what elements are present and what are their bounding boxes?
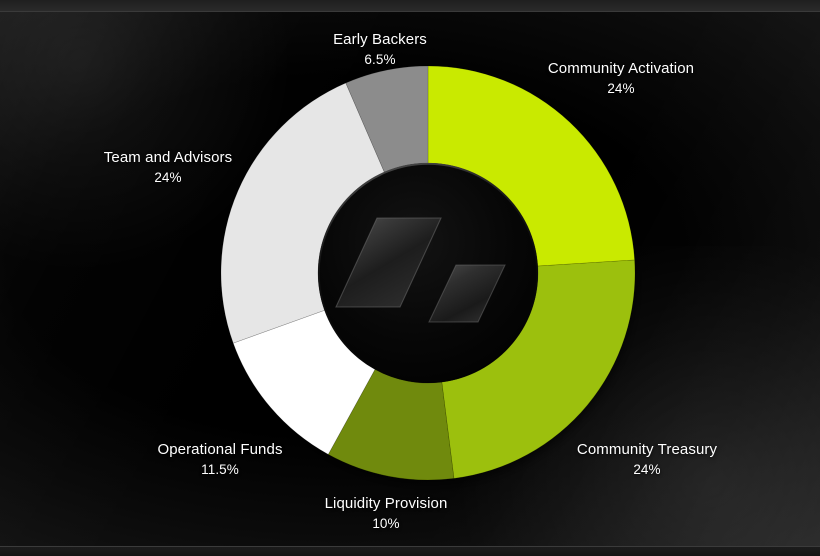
tokenomics-donut-chart	[0, 0, 820, 556]
chart-stage: Early Backers 6.5% Community Activation …	[0, 0, 820, 556]
donut-chart-screen: Early Backers 6.5% Community Activation …	[0, 0, 820, 556]
bottom-chrome-strip	[0, 547, 820, 556]
